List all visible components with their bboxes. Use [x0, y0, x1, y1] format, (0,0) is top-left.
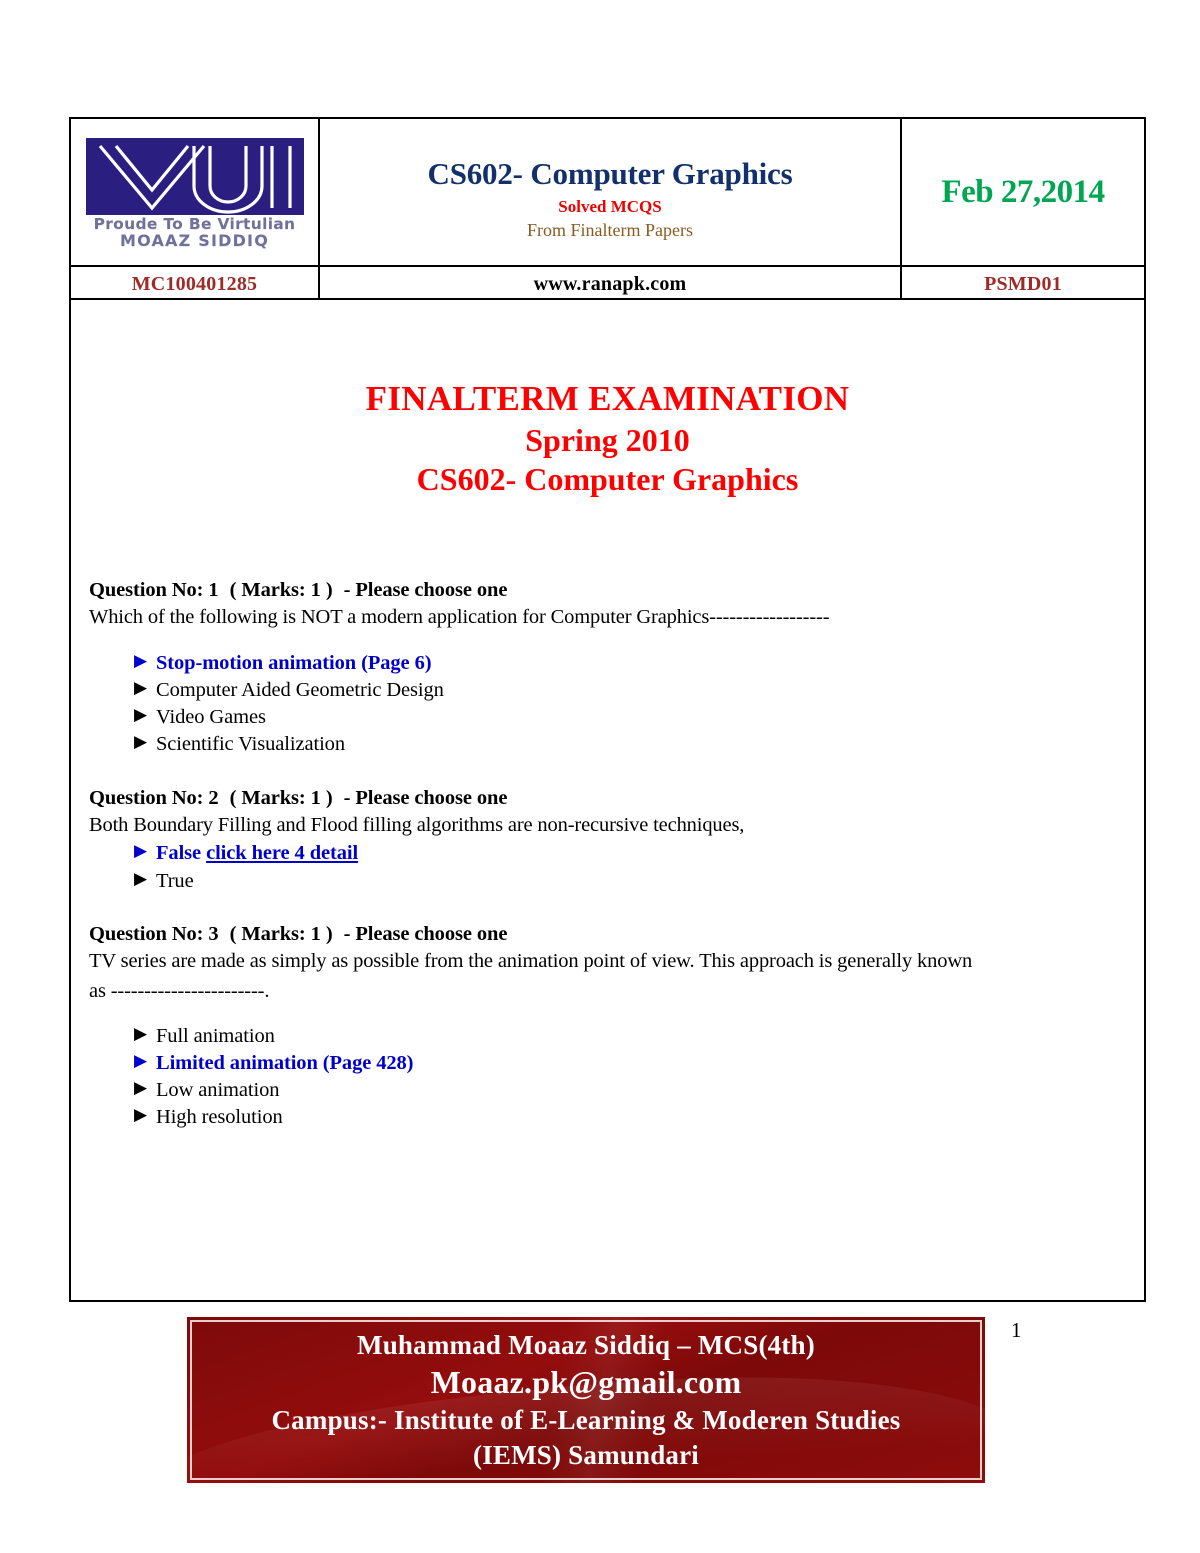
question-3-option-3[interactable]: ▶Low animation	[89, 1077, 1144, 1104]
option-label: Stop-motion animation (Page 6)	[156, 652, 431, 674]
question-3-option-1[interactable]: ▶Full animation	[89, 1023, 1144, 1050]
page-number: 1	[1011, 1318, 1022, 1343]
header-row-top: Proude To Be Virtulian MOAAZ SIDDIQ CS60…	[70, 118, 1145, 266]
website-url: www.ranapk.com	[534, 273, 687, 295]
bullet-triangle-icon: ▶	[134, 704, 147, 727]
bullet-triangle-icon: ▶	[134, 1077, 147, 1100]
header-subtitle-source: From Finalterm Papers	[320, 219, 900, 242]
question-3-marks: ( Marks: 1 )	[230, 923, 333, 945]
question-2-text: Both Boundary Filling and Flood filling …	[89, 811, 1129, 840]
course-title: CS602- Computer Graphics	[320, 156, 900, 193]
logo-cell: Proude To Be Virtulian MOAAZ SIDDIQ	[70, 118, 319, 266]
website-cell: www.ranapk.com	[319, 266, 901, 302]
question-block-2: Question No: 2( Marks: 1 )- Please choos…	[89, 785, 1144, 895]
footer-email[interactable]: Moaaz.pk@gmail.com	[192, 1362, 980, 1403]
option-label: True	[156, 870, 194, 892]
header-row-bottom: MC100401285 www.ranapk.com PSMD01	[70, 266, 1145, 302]
roll-number: MC100401285	[132, 273, 258, 295]
questions-list: Question No: 1( Marks: 1 )- Please choos…	[89, 577, 1144, 1132]
document-page: Proude To Be Virtulian MOAAZ SIDDIQ CS60…	[0, 0, 1200, 1553]
question-3-option-4[interactable]: ▶High resolution	[89, 1104, 1144, 1131]
question-2-option-2[interactable]: ▶True	[89, 868, 1144, 895]
header-subtitle-solved-mcqs: Solved MCQS	[320, 196, 900, 217]
paper-code: PSMD01	[984, 273, 1062, 295]
question-3-instruction: - Please choose one	[344, 923, 508, 945]
question-block-1: Question No: 1( Marks: 1 )- Please choos…	[89, 577, 1144, 759]
question-3-header: Question No: 3( Marks: 1 )- Please choos…	[89, 921, 1144, 948]
question-block-3: Question No: 3( Marks: 1 )- Please choos…	[89, 921, 1144, 1132]
vu-logo-mark	[86, 138, 304, 215]
question-1-option-4[interactable]: ▶Scientific Visualization	[89, 731, 1144, 758]
question-3-text-line1: TV series are made as simply as possible…	[89, 947, 1129, 976]
question-2-options: ▶False click here 4 detail ▶True	[89, 840, 1144, 895]
question-1-option-3[interactable]: ▶Video Games	[89, 704, 1144, 731]
option-label: Scientific Visualization	[156, 733, 345, 755]
exam-heading-line2: Spring 2010	[71, 421, 1144, 460]
question-3-options: ▶Full animation ▶Limited animation (Page…	[89, 1023, 1144, 1132]
question-1-option-1[interactable]: ▶Stop-motion animation (Page 6)	[89, 650, 1144, 677]
vu-logo: Proude To Be Virtulian MOAAZ SIDDIQ	[86, 138, 304, 249]
footer-campus: Campus:- Institute of E-Learning & Moder…	[192, 1403, 980, 1438]
header-title-cell: CS602- Computer Graphics Solved MCQS Fro…	[319, 118, 901, 266]
roll-number-cell: MC100401285	[70, 266, 319, 302]
question-1-option-2[interactable]: ▶Computer Aided Geometric Design	[89, 677, 1144, 704]
question-1-text: Which of the following is NOT a modern a…	[89, 603, 1129, 632]
question-1-instruction: - Please choose one	[344, 579, 508, 601]
exam-heading-line3: CS602- Computer Graphics	[71, 460, 1144, 499]
question-3-option-2[interactable]: ▶Limited animation (Page 428)	[89, 1050, 1144, 1077]
option-label: Full animation	[156, 1025, 275, 1047]
question-2-instruction: - Please choose one	[344, 787, 508, 809]
question-2-marks: ( Marks: 1 )	[230, 787, 333, 809]
header-date-cell: Feb 27,2014	[901, 118, 1145, 266]
question-3-text-line2: as -----------------------.	[89, 977, 1129, 1006]
bullet-triangle-icon: ▶	[134, 840, 147, 863]
question-1-number: Question No: 1	[89, 579, 219, 601]
question-1-marks: ( Marks: 1 )	[230, 579, 333, 601]
bullet-triangle-icon: ▶	[134, 868, 147, 891]
paper-code-cell: PSMD01	[901, 266, 1145, 302]
author-footer-banner: Muhammad Moaaz Siddiq – MCS(4th) Moaaz.p…	[187, 1317, 985, 1483]
click-here-link[interactable]: click here 4 detail	[206, 842, 358, 864]
exam-heading-line1: FINALTERM EXAMINATION	[71, 378, 1144, 421]
option-label: False	[156, 842, 201, 864]
question-2-option-1[interactable]: ▶False click here 4 detail	[89, 840, 1144, 867]
option-label: Video Games	[156, 706, 266, 728]
bullet-triangle-icon: ▶	[134, 650, 147, 673]
option-label: High resolution	[156, 1106, 283, 1128]
option-label: Low animation	[156, 1079, 279, 1101]
header-date: Feb 27,2014	[902, 174, 1144, 211]
question-2-number: Question No: 2	[89, 787, 219, 809]
author-footer-inner: Muhammad Moaaz Siddiq – MCS(4th) Moaaz.p…	[190, 1320, 982, 1480]
bullet-triangle-icon: ▶	[134, 1104, 147, 1127]
question-1-header: Question No: 1( Marks: 1 )- Please choos…	[89, 577, 1144, 604]
question-1-options: ▶Stop-motion animation (Page 6) ▶Compute…	[89, 650, 1144, 759]
footer-campus-location: (IEMS) Samundari	[192, 1438, 980, 1473]
exam-body-frame: FINALTERM EXAMINATION Spring 2010 CS602-…	[69, 298, 1146, 1302]
footer-author-name: Muhammad Moaaz Siddiq – MCS(4th)	[192, 1328, 980, 1363]
bullet-triangle-icon: ▶	[134, 731, 147, 754]
question-2-header: Question No: 2( Marks: 1 )- Please choos…	[89, 785, 1144, 812]
exam-heading: FINALTERM EXAMINATION Spring 2010 CS602-…	[71, 378, 1144, 499]
bullet-triangle-icon: ▶	[134, 1050, 147, 1073]
option-label: Computer Aided Geometric Design	[156, 679, 444, 701]
document-header-table: Proude To Be Virtulian MOAAZ SIDDIQ CS60…	[69, 117, 1146, 303]
question-3-number: Question No: 3	[89, 923, 219, 945]
bullet-triangle-icon: ▶	[134, 677, 147, 700]
logo-owner: MOAAZ SIDDIQ	[86, 233, 304, 250]
bullet-triangle-icon: ▶	[134, 1023, 147, 1046]
option-label: Limited animation (Page 428)	[156, 1052, 413, 1074]
